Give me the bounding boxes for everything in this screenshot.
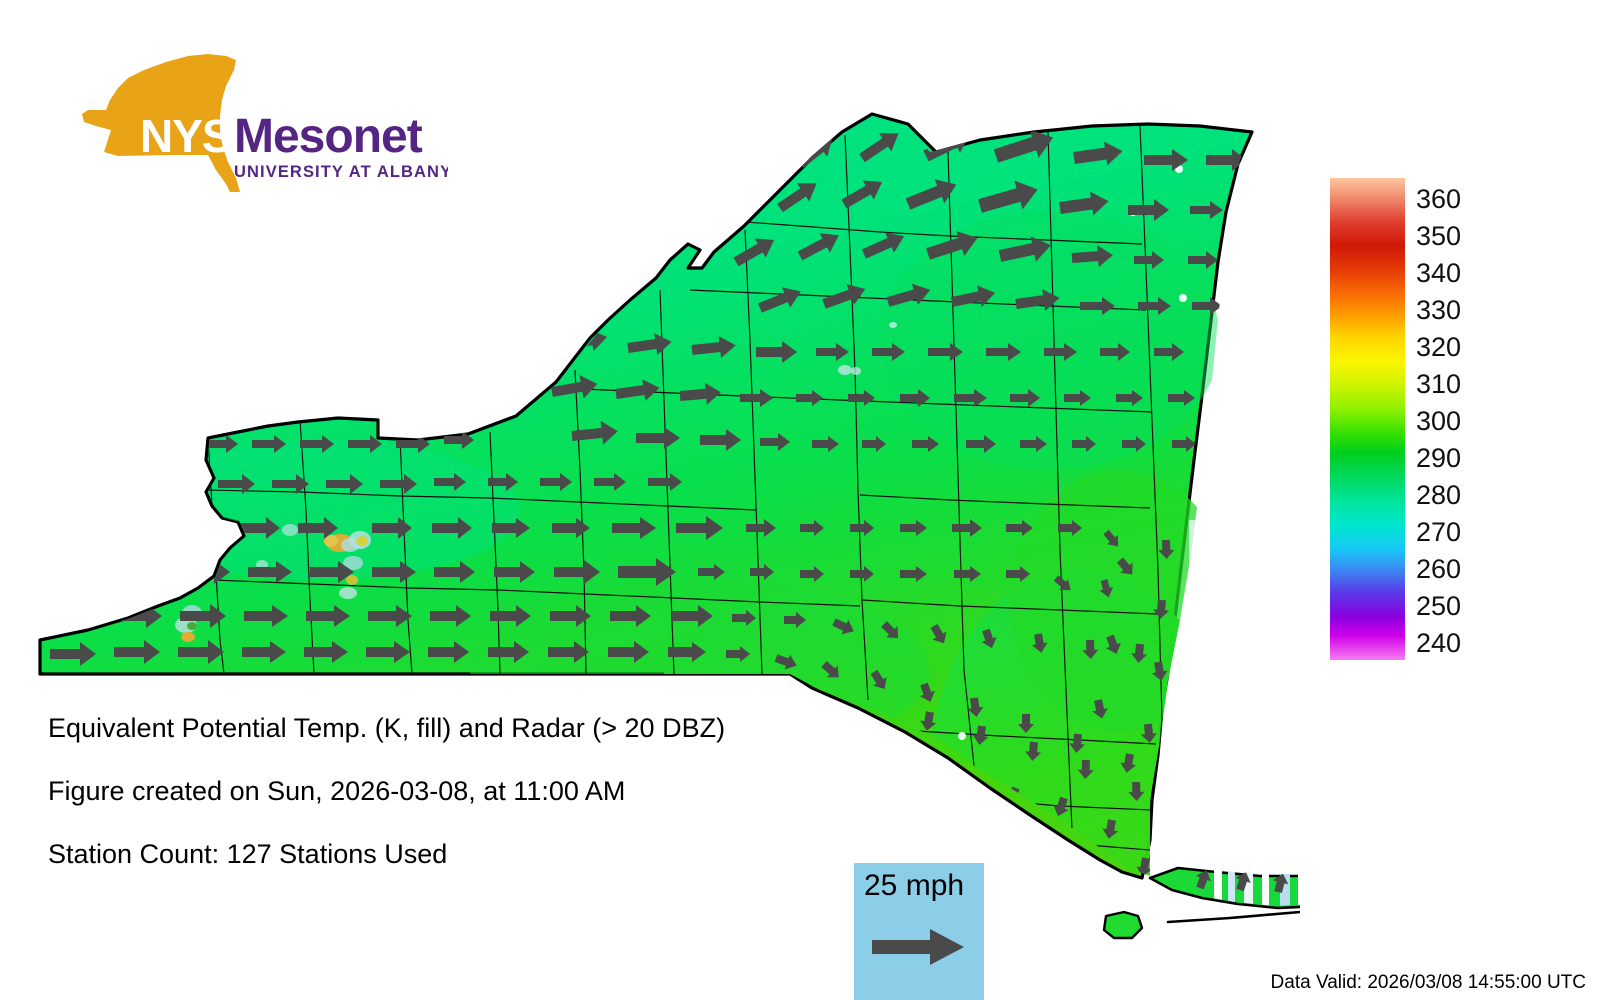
colorbar-tick: 260	[1416, 556, 1461, 583]
colorbar-tick: 270	[1416, 519, 1461, 546]
wind-speed-key: 25 mph	[854, 863, 984, 1000]
colorbar-tick: 330	[1416, 297, 1461, 324]
colorbar-tick: 240	[1416, 630, 1461, 657]
colorbar-gradient-strip	[1330, 178, 1405, 660]
caption-station-count: Station Count: 127 Stations Used	[48, 841, 948, 868]
colorbar-tick: 360	[1416, 186, 1461, 213]
data-valid-timestamp: Data Valid: 2026/03/08 14:55:00 UTC	[1271, 972, 1586, 994]
colorbar-tick: 320	[1416, 334, 1461, 361]
wind-key-arrow-icon	[872, 925, 972, 969]
staten-island-fill	[1104, 912, 1142, 938]
colorbar-tick: 350	[1416, 223, 1461, 250]
caption-created-time: Figure created on Sun, 2026-03-08, at 11…	[48, 778, 948, 805]
colorbar-tick: 300	[1416, 408, 1461, 435]
figure-caption: Equivalent Potential Temp. (K, fill) and…	[48, 715, 948, 904]
colorbar-tick: 340	[1416, 260, 1461, 287]
long-island-fill	[1150, 844, 1300, 908]
colorbar: 360 350 340 330 320 310 300 290 280 270 …	[1330, 170, 1580, 670]
caption-title: Equivalent Potential Temp. (K, fill) and…	[48, 715, 948, 742]
colorbar-tick-labels: 360 350 340 330 320 310 300 290 280 270 …	[1416, 170, 1556, 670]
colorbar-tick: 310	[1416, 371, 1461, 398]
colorbar-tick: 290	[1416, 445, 1461, 472]
colorbar-tick: 250	[1416, 593, 1461, 620]
wind-key-label: 25 mph	[864, 869, 964, 903]
colorbar-tick: 280	[1416, 482, 1461, 509]
